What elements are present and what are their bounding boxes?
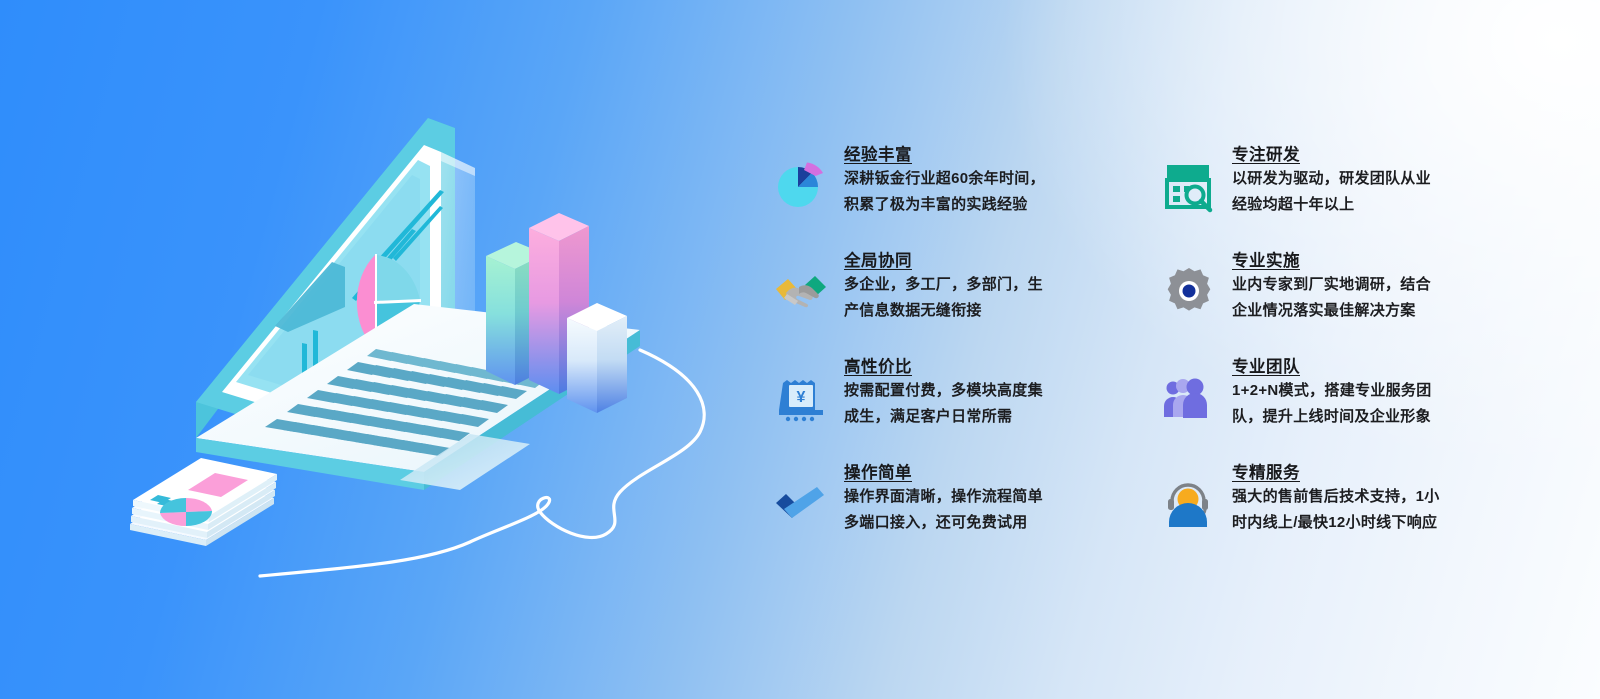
handshake-icon: [770, 260, 832, 322]
desc-line: 强大的售前售后技术支持，1小: [1232, 484, 1440, 510]
features-grid: 经验丰富 深耕钣金行业超60余年时间， 积累了极为丰富的实践经验: [770, 138, 1530, 568]
feature-description: 操作界面清晰，操作流程简单 多端口接入，还可免费试用: [844, 484, 1043, 536]
desc-line: 产信息数据无缝衔接: [844, 298, 1043, 324]
desc-line: 企业情况落实最佳解决方案: [1232, 298, 1431, 324]
feature-description: 深耕钣金行业超60余年时间， 积累了极为丰富的实践经验: [844, 166, 1045, 218]
feature-text: 专业团队 1+2+N模式，搭建专业服务团 队，提升上线时间及企业形象: [1232, 350, 1432, 430]
gear-icon: [1158, 260, 1220, 322]
feature-text: 经验丰富 深耕钣金行业超60余年时间， 积累了极为丰富的实践经验: [844, 138, 1045, 218]
feature-title: 专业实施: [1232, 250, 1431, 272]
headset-support-icon: [1158, 472, 1220, 534]
feature-easy-operation: 操作简单 操作界面清晰，操作流程简单 多端口接入，还可免费试用: [770, 456, 1136, 562]
feature-title: 经验丰富: [844, 144, 1045, 166]
feature-text: 专业实施 业内专家到厂实地调研，结合 企业情况落实最佳解决方案: [1232, 244, 1431, 324]
desc-line: 多端口接入，还可免费试用: [844, 510, 1043, 536]
feature-description: 1+2+N模式，搭建专业服务团 队，提升上线时间及企业形象: [1232, 378, 1432, 430]
feature-rnd-focus: 专注研发 以研发为驱动，研发团队从业 经验均超十年以上: [1158, 138, 1524, 244]
desc-line: 业内专家到厂实地调研，结合: [1232, 272, 1431, 298]
desc-line: 积累了极为丰富的实践经验: [844, 192, 1045, 218]
feature-dedicated-service: 专精服务 强大的售前售后技术支持，1小 时内线上/最快12小时线下响应: [1158, 456, 1524, 562]
desc-line: 操作界面清晰，操作流程简单: [844, 484, 1043, 510]
checkmark-icon: [770, 472, 832, 534]
browser-search-icon: [1158, 154, 1220, 216]
bar-3-white: [567, 303, 627, 413]
desc-line: 1+2+N模式，搭建专业服务团: [1232, 378, 1432, 404]
feature-description: 按需配置付费，多模块高度集 成生，满足客户日常所需: [844, 378, 1043, 430]
feature-highlights-banner: 经验丰富 深耕钣金行业超60余年时间， 积累了极为丰富的实践经验: [0, 0, 1600, 699]
feature-text: 专精服务 强大的售前售后技术支持，1小 时内线上/最快12小时线下响应: [1232, 456, 1440, 536]
feature-description: 业内专家到厂实地调研，结合 企业情况落实最佳解决方案: [1232, 272, 1431, 324]
feature-experience: 经验丰富 深耕钣金行业超60余年时间， 积累了极为丰富的实践经验: [770, 138, 1136, 244]
feature-text: 全局协同 多企业，多工厂，多部门，生 产信息数据无缝衔接: [844, 244, 1043, 324]
people-group-icon: [1158, 366, 1220, 428]
feature-text: 专注研发 以研发为驱动，研发团队从业 经验均超十年以上: [1232, 138, 1431, 218]
svg-text:¥: ¥: [797, 389, 806, 406]
desc-line: 按需配置付费，多模块高度集: [844, 378, 1043, 404]
feature-title: 操作简单: [844, 462, 1043, 484]
document-stack: [130, 458, 277, 546]
feature-global-collaboration: 全局协同 多企业，多工厂，多部门，生 产信息数据无缝衔接: [770, 244, 1136, 350]
desc-line: 经验均超十年以上: [1232, 192, 1431, 218]
feature-professional-team: 专业团队 1+2+N模式，搭建专业服务团 队，提升上线时间及企业形象: [1158, 350, 1524, 456]
receipt-yuan-icon: ¥: [770, 366, 832, 428]
feature-description: 以研发为驱动，研发团队从业 经验均超十年以上: [1232, 166, 1431, 218]
desc-line: 以研发为驱动，研发团队从业: [1232, 166, 1431, 192]
isometric-laptop-illustration: [0, 0, 760, 699]
desc-line: 队，提升上线时间及企业形象: [1232, 404, 1432, 430]
feature-title: 专业团队: [1232, 356, 1432, 378]
illustration-svg: [0, 0, 760, 699]
desc-line: 时内线上/最快12小时线下响应: [1232, 510, 1440, 536]
feature-title: 高性价比: [844, 356, 1043, 378]
feature-title: 专注研发: [1232, 144, 1431, 166]
feature-text: 高性价比 按需配置付费，多模块高度集 成生，满足客户日常所需: [844, 350, 1043, 430]
pie-chart-icon: [770, 154, 832, 216]
desc-line: 多企业，多工厂，多部门，生: [844, 272, 1043, 298]
feature-title: 全局协同: [844, 250, 1043, 272]
desc-line: 成生，满足客户日常所需: [844, 404, 1043, 430]
feature-professional-implementation: 专业实施 业内专家到厂实地调研，结合 企业情况落实最佳解决方案: [1158, 244, 1524, 350]
feature-description: 多企业，多工厂，多部门，生 产信息数据无缝衔接: [844, 272, 1043, 324]
feature-title: 专精服务: [1232, 462, 1440, 484]
desc-line: 深耕钣金行业超60余年时间，: [844, 166, 1045, 192]
feature-description: 强大的售前售后技术支持，1小 时内线上/最快12小时线下响应: [1232, 484, 1440, 536]
feature-cost-effective: ¥ 高性价比 按需配置付费，多模块高度集 成生，满足客户日常所需: [770, 350, 1136, 456]
feature-text: 操作简单 操作界面清晰，操作流程简单 多端口接入，还可免费试用: [844, 456, 1043, 536]
